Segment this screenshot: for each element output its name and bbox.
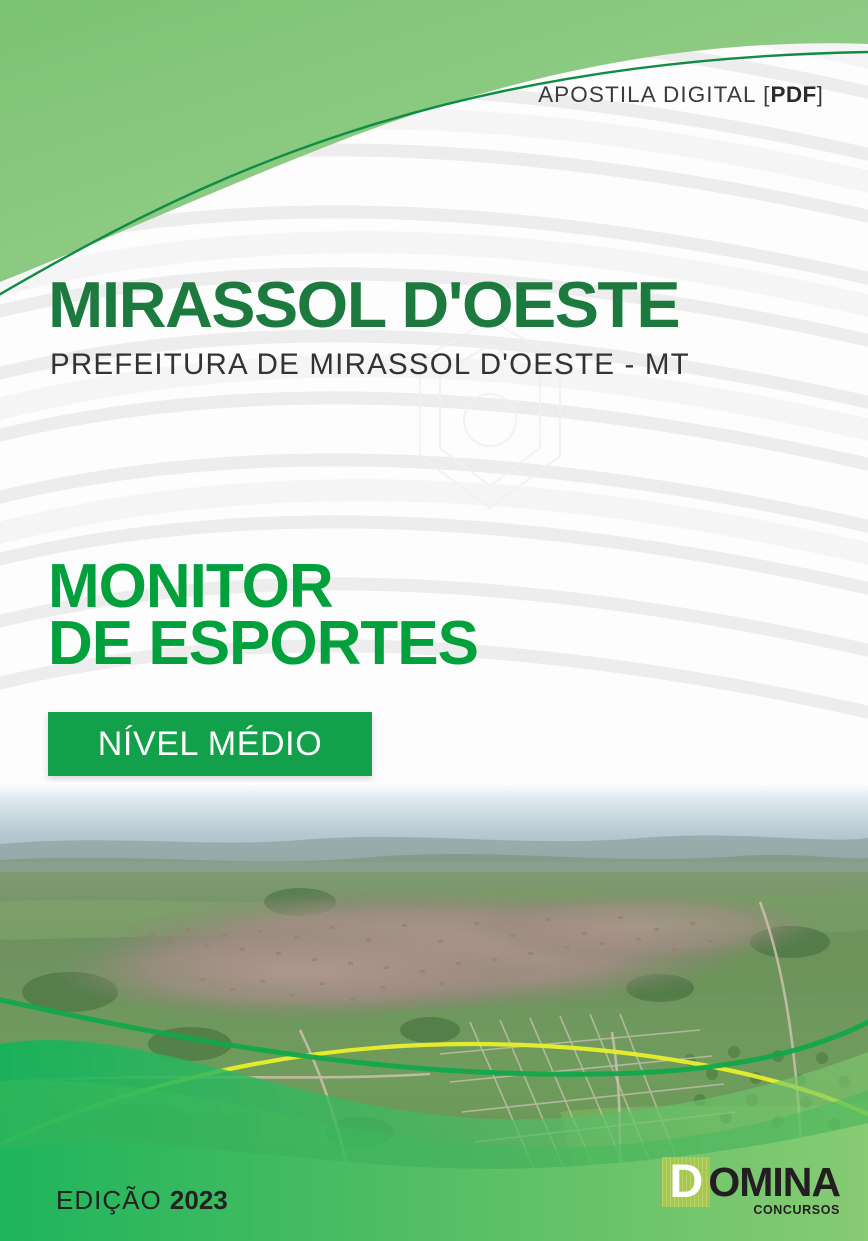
entity-subtitle: PREFEITURA DE MIRASSOL D'OESTE - MT <box>50 350 690 380</box>
domina-concursos-logo: D OMINA CONCURSOS <box>662 1157 840 1215</box>
logo-wordmark: OMINA CONCURSOS <box>708 1157 840 1217</box>
logo-d-tile: D <box>662 1157 710 1207</box>
education-level-badge: NÍVEL MÉDIO <box>48 712 372 776</box>
format-label-suffix: ] <box>817 82 824 107</box>
edition-label: EDIÇÃO 2023 <box>56 1185 228 1216</box>
format-label-prefix: APOSTILA DIGITAL [ <box>538 82 770 107</box>
format-label-pdf: PDF <box>770 82 816 107</box>
role-line-2: DE ESPORTES <box>48 615 478 672</box>
education-level-label: NÍVEL MÉDIO <box>98 727 323 761</box>
city-title: MIRASSOL D'OESTE <box>48 272 679 337</box>
logo-name: OMINA <box>708 1162 840 1203</box>
role-title: MONITOR DE ESPORTES <box>48 558 478 672</box>
format-label: APOSTILA DIGITAL [PDF] <box>538 82 824 108</box>
logo-letter-d: D <box>669 1157 703 1204</box>
edition-word: EDIÇÃO <box>56 1185 162 1215</box>
logo-tagline: CONCURSOS <box>708 1204 840 1217</box>
apostila-cover: APOSTILA DIGITAL [PDF] MIRASSOL D'OESTE … <box>0 0 868 1241</box>
edition-year: 2023 <box>170 1185 228 1215</box>
